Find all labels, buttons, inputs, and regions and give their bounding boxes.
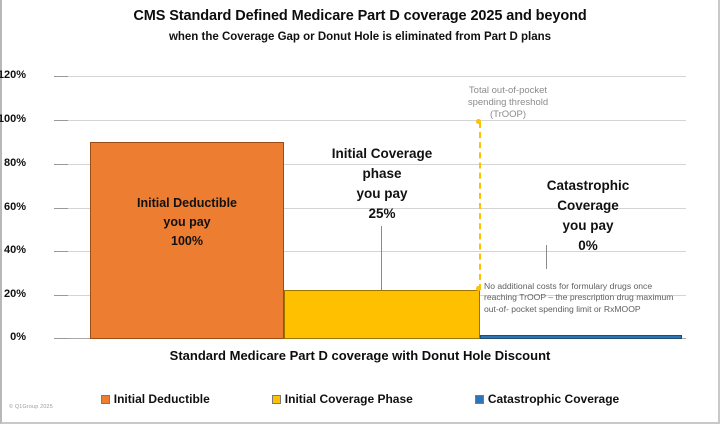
label-initial-deductible-line-1: Initial Deductible: [90, 194, 284, 213]
label-catastrophic-line-2: Coverage: [488, 196, 688, 216]
catastrophic-coverage-note: No additional costs for formulary drugs …: [484, 281, 682, 315]
label-initial-coverage-line-2: phase: [274, 164, 490, 184]
ytick-stub-100: [54, 120, 68, 121]
chart-subtitle: when the Coverage Gap or Donut Hole is e…: [2, 31, 718, 43]
label-initial-coverage-line-3: you pay: [274, 184, 490, 204]
legend-item-catastrophic-coverage[interactable]: Catastrophic Coverage: [475, 392, 619, 406]
ytick-stub-20: [54, 295, 68, 296]
troop-annotation: Total out-of-pocket spending threshold (…: [423, 85, 593, 121]
troop-annotation-line-3: (TrOOP): [423, 109, 593, 121]
troop-annotation-line-2: spending threshold: [423, 97, 593, 109]
chart-title: CMS Standard Defined Medicare Part D cov…: [2, 8, 718, 24]
x-axis-title: Standard Medicare Part D coverage with D…: [2, 348, 718, 363]
chart-figure: CMS Standard Defined Medicare Part D cov…: [0, 0, 720, 424]
leader-line-initial-coverage: [381, 226, 382, 290]
ytick-stub-0: [54, 338, 68, 339]
ytick-label-40: 40%: [0, 244, 26, 256]
ytick-stub-60: [54, 208, 68, 209]
ytick-stub-80: [54, 164, 68, 165]
bar-initial-coverage-phase[interactable]: [284, 290, 480, 339]
label-initial-deductible-line-3: 100%: [90, 232, 284, 251]
label-catastrophic-line-4: 0%: [488, 236, 688, 256]
label-initial-coverage-phase: Initial Coverage phase you pay 25%: [274, 144, 490, 224]
label-initial-coverage-line-1: Initial Coverage: [274, 144, 490, 164]
ytick-label-20: 20%: [0, 288, 26, 300]
label-initial-deductible: Initial Deductible you pay 100%: [90, 194, 284, 251]
legend-swatch-icon-catastrophic-coverage: [475, 395, 484, 404]
leader-line-catastrophic: [546, 245, 547, 269]
plot-area: 120% 100% 80% 60% 40% 20% 0% Total out-o…: [68, 76, 686, 339]
label-catastrophic-line-1: Catastrophic: [488, 176, 688, 196]
chart-legend: Initial Deductible Initial Coverage Phas…: [2, 392, 718, 406]
legend-item-initial-deductible[interactable]: Initial Deductible: [101, 392, 210, 406]
label-initial-coverage-line-4: 25%: [274, 204, 490, 224]
ytick-label-60: 60%: [0, 201, 26, 213]
troop-annotation-line-1: Total out-of-pocket: [423, 85, 593, 97]
ytick-label-80: 80%: [0, 157, 26, 169]
troop-line-bottom-marker: [476, 286, 481, 291]
label-catastrophic-coverage: Catastrophic Coverage you pay 0%: [488, 176, 688, 256]
legend-swatch-icon-initial-coverage-phase: [272, 395, 281, 404]
gridline-100: [68, 120, 686, 121]
legend-item-initial-coverage-phase[interactable]: Initial Coverage Phase: [272, 392, 413, 406]
gridline-120: [68, 76, 686, 77]
legend-label-initial-coverage-phase: Initial Coverage Phase: [285, 392, 413, 406]
ytick-label-120: 120%: [0, 69, 26, 81]
ytick-label-100: 100%: [0, 113, 26, 125]
label-catastrophic-line-3: you pay: [488, 216, 688, 236]
legend-label-catastrophic-coverage: Catastrophic Coverage: [488, 392, 619, 406]
legend-swatch-icon-initial-deductible: [101, 395, 110, 404]
bar-catastrophic-coverage[interactable]: [480, 335, 682, 339]
label-initial-deductible-line-2: you pay: [90, 213, 284, 232]
ytick-label-0: 0%: [0, 331, 26, 343]
legend-label-initial-deductible: Initial Deductible: [114, 392, 210, 406]
ytick-stub-40: [54, 251, 68, 252]
copyright-notice: © Q1Group 2025: [9, 404, 53, 410]
ytick-stub-120: [54, 76, 68, 77]
